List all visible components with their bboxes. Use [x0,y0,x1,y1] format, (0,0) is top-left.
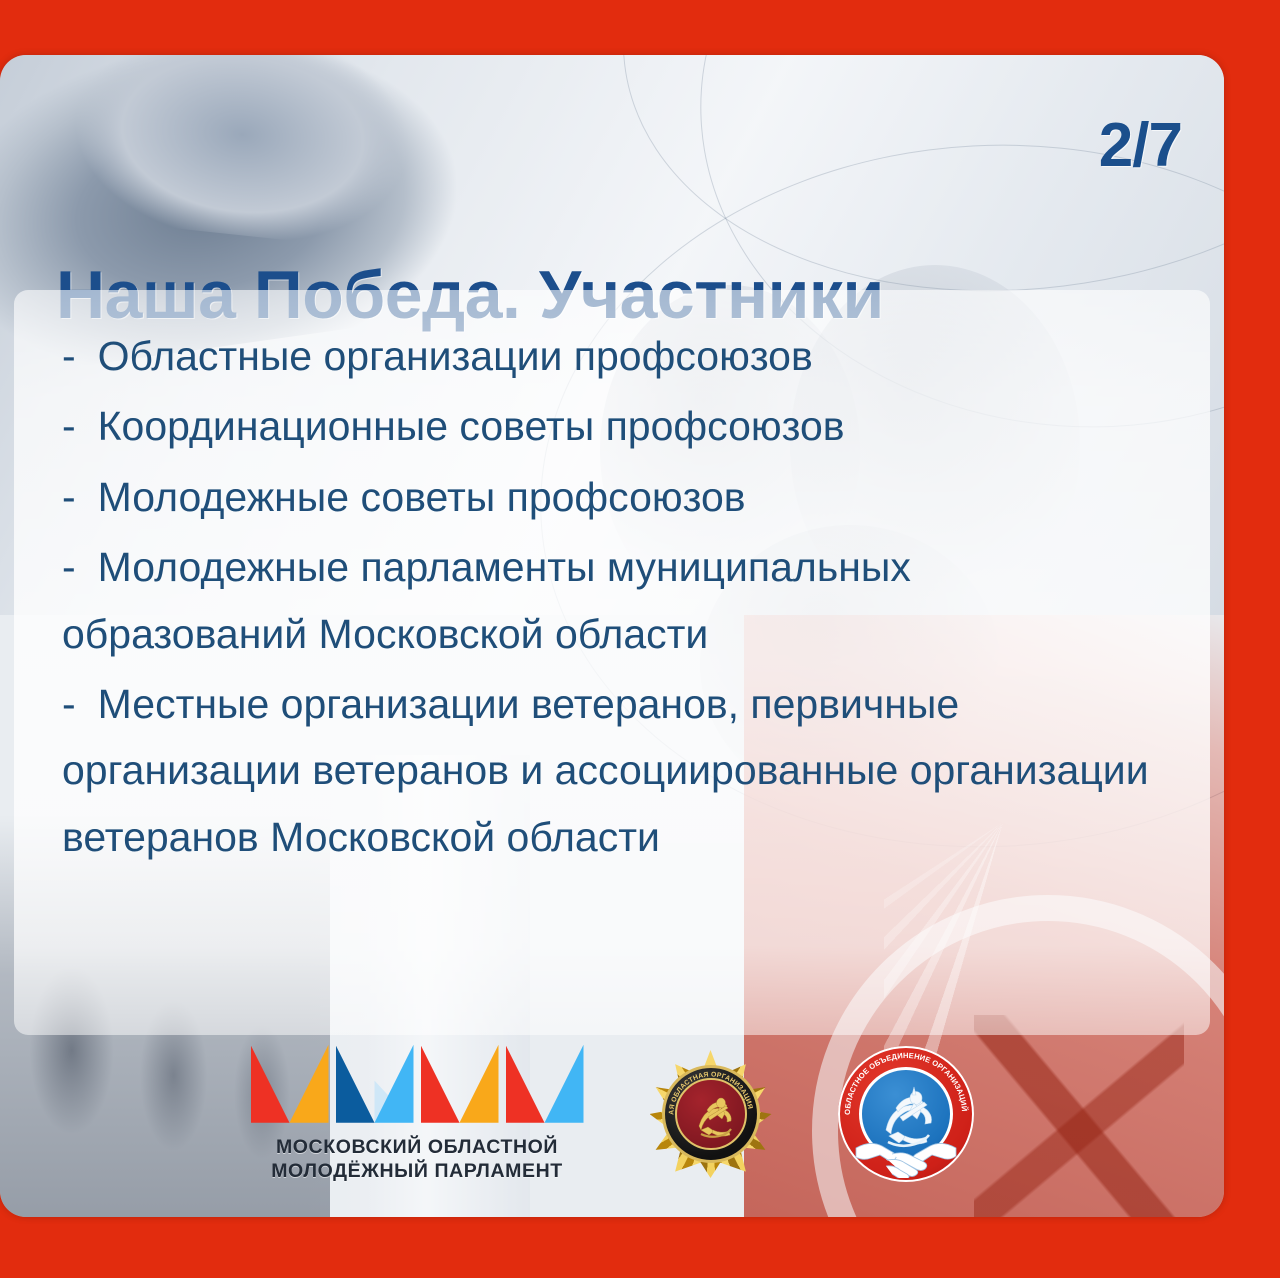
saint-george-gold-icon [677,1080,747,1150]
momp-block-4 [506,1045,584,1123]
momp-block-3 [421,1045,499,1123]
list-item-text: Молодежные советы профсоюзов [98,474,746,520]
list-item-text: Молодежные парламенты муниципальных обра… [62,544,911,656]
red-frame: 2/7 Наша Победа. Участники -Областные ор… [0,0,1280,1278]
slide-content: 2/7 Наша Победа. Участники -Областные ор… [0,55,1224,1217]
momp-logo-mark [251,1045,584,1123]
list-item-text: Областные организации профсоюзов [98,333,813,379]
list-item: -Координационные советы профсоюзов [62,393,1152,459]
slide-card: 2/7 Наша Победа. Участники -Областные ор… [0,55,1224,1217]
momp-caption-line-2: МОЛОДЁЖНЫЙ ПАРЛАМЕНТ [271,1160,563,1184]
list-item: -Местные организации ветеранов, первичны… [62,671,1152,870]
momp-logo: МОСКОВСКИЙ ОБЛАСТНОЙ МОЛОДЁЖНЫЙ ПАРЛАМЕН… [251,1045,584,1184]
veterans-organization-emblem: МОСКОВСКАЯ ОБЛАСТНАЯ ОРГАНИЗАЦИЯ ВЕТЕРАН… [650,1050,772,1178]
momp-block-1 [251,1045,329,1123]
bullet-dash: - [62,333,76,379]
trade-union-emblem: МОСКОВСКОЕ ОБЛАСТНОЕ ОБЪЕДИНЕНИЕ ОРГАНИЗ… [838,1046,974,1182]
bullet-list: -Областные организации профсоюзов -Коорд… [62,323,1152,874]
list-item-text: Местные организации ветеранов, первичные… [62,681,1149,860]
list-item-text: Координационные советы профсоюзов [98,403,845,449]
list-item: -Областные организации профсоюзов [62,323,1152,389]
logo-row: МОСКОВСКИЙ ОБЛАСТНОЙ МОЛОДЁЖНЫЙ ПАРЛАМЕН… [0,1019,1224,1209]
bullet-dash: - [62,544,76,590]
bullet-dash: - [62,681,76,727]
list-item: -Молодежные советы профсоюзов [62,464,1152,530]
bullet-dash: - [62,474,76,520]
momp-logo-caption: МОСКОВСКИЙ ОБЛАСТНОЙ МОЛОДЁЖНЫЙ ПАРЛАМЕН… [271,1136,563,1184]
momp-caption-line-1: МОСКОВСКИЙ ОБЛАСТНОЙ [271,1136,563,1160]
veterans-red-center [675,1078,747,1150]
list-item: -Молодежные парламенты муниципальных обр… [62,534,1152,667]
momp-block-2 [336,1045,414,1123]
handshake-icon [854,1132,958,1178]
page-counter: 2/7 [1099,110,1182,181]
footer-logos: МОСКОВСКИЙ ОБЛАСТНОЙ МОЛОДЁЖНЫЙ ПАРЛАМЕН… [0,1019,1224,1209]
bullet-dash: - [62,403,76,449]
